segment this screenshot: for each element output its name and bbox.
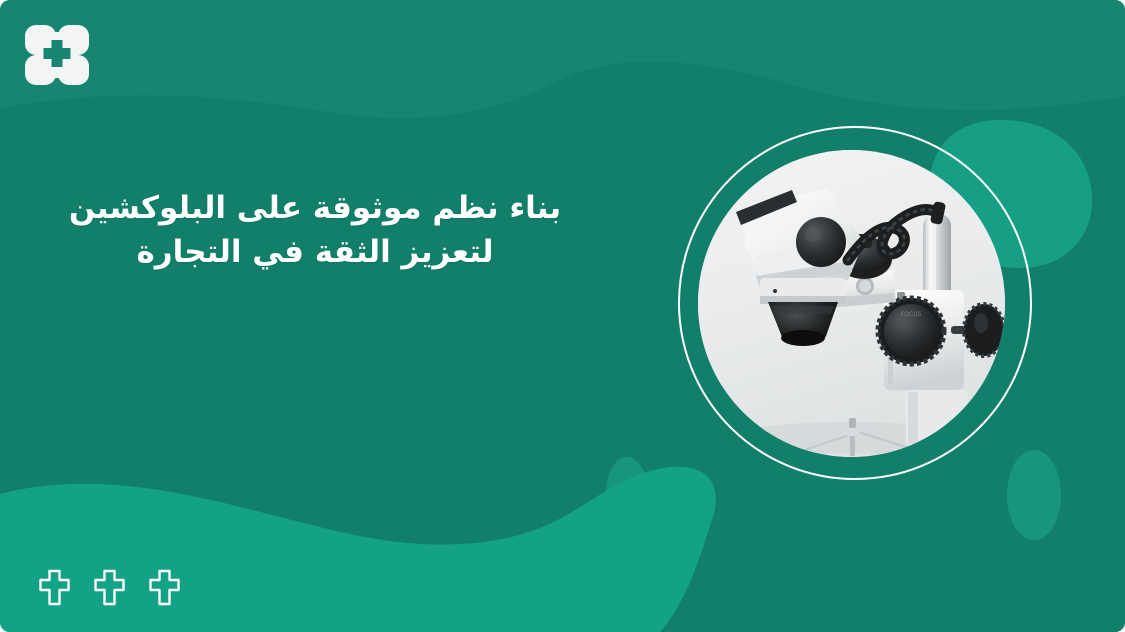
microscope-illustration: FOCUS <box>698 150 1005 457</box>
cross-outline-icon-2 <box>93 569 126 606</box>
svg-text:FOCUS: FOCUS <box>901 311 922 318</box>
promo-banner: بناء نظم موثوقة على البلوكشين لتعزيز الث… <box>0 0 1125 632</box>
clover-cross-logo-icon <box>24 24 90 86</box>
headline-line-2: لتعزيز الثقة في التجارة <box>65 230 565 274</box>
headline-line-1: بناء نظم موثوقة على البلوكشين <box>65 186 565 230</box>
cross-outline-icon-3 <box>38 569 71 606</box>
cross-decoration-row <box>38 569 181 606</box>
blob-small-right <box>1007 450 1061 540</box>
cross-outline-icon-1 <box>148 569 181 606</box>
hero-photo: FOCUS <box>698 150 1005 457</box>
page-title: بناء نظم موثوقة على البلوكشين لتعزيز الث… <box>65 186 565 274</box>
